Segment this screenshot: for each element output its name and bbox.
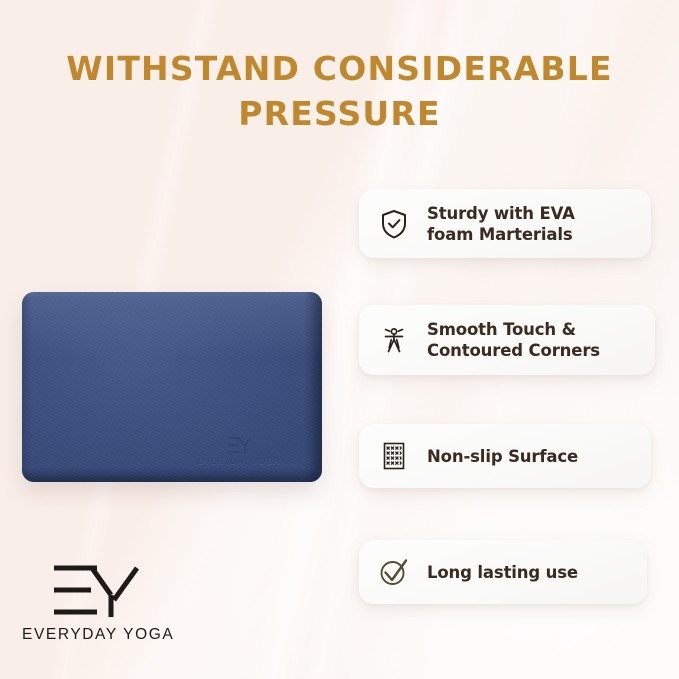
brand-logo: EVERYDAY YOGA bbox=[22, 562, 172, 644]
block-bottom-shading bbox=[22, 468, 322, 482]
textured-surface-icon bbox=[377, 439, 411, 473]
block-right-shading bbox=[304, 292, 322, 482]
embossed-brand-logo: EVERYDAY YOGA bbox=[174, 435, 304, 466]
feature-card-smooth-touch[interactable]: Smooth Touch & Contoured Corners bbox=[359, 305, 655, 375]
vitruvian-figure-icon bbox=[377, 323, 411, 357]
feature-text-line-1: Long lasting use bbox=[427, 562, 578, 583]
block-left-shading bbox=[22, 292, 32, 482]
embossed-wordmark: EVERYDAY YOGA bbox=[174, 457, 304, 466]
feature-text-line-2: foam Marterials bbox=[427, 224, 575, 245]
feature-card-label: Sturdy with EVA foam Marterials bbox=[427, 203, 575, 245]
shield-check-icon bbox=[377, 207, 411, 241]
embossed-ey-monogram-icon bbox=[226, 435, 252, 455]
feature-text-line-1: Smooth Touch & bbox=[427, 319, 600, 340]
ey-monogram-icon bbox=[51, 562, 143, 620]
feature-card-sturdy[interactable]: Sturdy with EVA foam Marterials bbox=[359, 189, 651, 258]
feature-text-line-2: Contoured Corners bbox=[427, 340, 600, 361]
block-highlight bbox=[22, 292, 322, 357]
page-title: WITHSTAND CONSIDERABLE PRESSURE bbox=[40, 46, 639, 136]
feature-text-line-1: Non-slip Surface bbox=[427, 446, 578, 467]
product-image-yoga-block: EVERYDAY YOGA bbox=[22, 292, 322, 482]
feature-card-label: Long lasting use bbox=[427, 562, 578, 583]
feature-text-line-1: Sturdy with EVA bbox=[427, 203, 575, 224]
headline-line-2: PRESSURE bbox=[40, 91, 639, 136]
headline-line-1: WITHSTAND CONSIDERABLE bbox=[40, 46, 639, 91]
feature-card-non-slip[interactable]: Non-slip Surface bbox=[359, 424, 651, 488]
feature-card-label: Non-slip Surface bbox=[427, 446, 578, 467]
brand-wordmark: EVERYDAY YOGA bbox=[22, 626, 172, 644]
feature-card-long-lasting[interactable]: Long lasting use bbox=[359, 540, 647, 604]
promo-image-canvas: WITHSTAND CONSIDERABLE PRESSURE EVERYDAY… bbox=[0, 0, 679, 679]
feature-card-label: Smooth Touch & Contoured Corners bbox=[427, 319, 600, 361]
circle-check-icon bbox=[377, 555, 411, 589]
